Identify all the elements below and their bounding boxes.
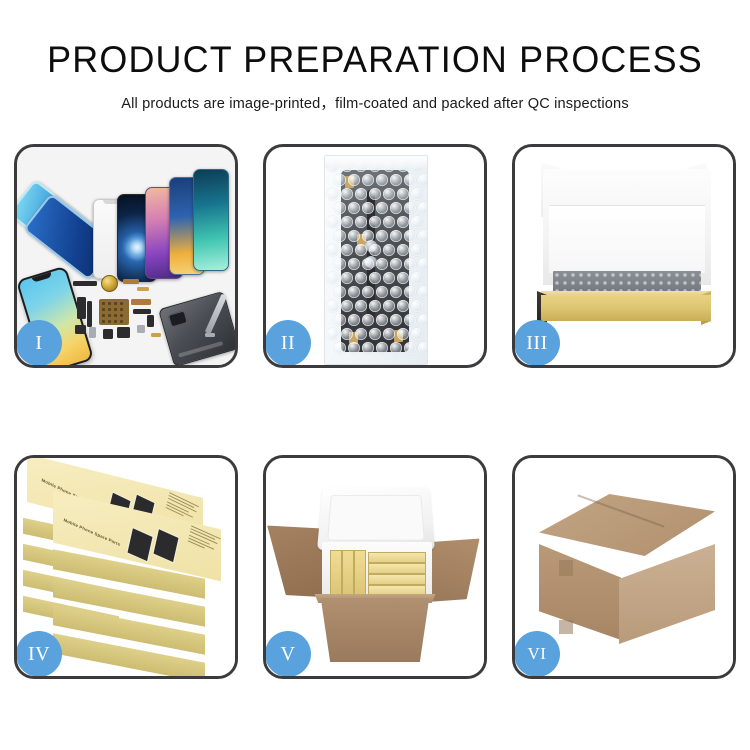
part-gold-contact — [151, 333, 161, 337]
part-flex-cable-2 — [131, 299, 151, 305]
bag-seal-edge — [325, 156, 427, 168]
step-badge-2: II — [265, 320, 311, 366]
yellow-box-3 — [354, 550, 366, 596]
carton-top-face — [539, 494, 715, 556]
styrofoam-lid — [317, 487, 435, 550]
front-box-spec-lines — [187, 525, 222, 557]
yellow-box-1 — [330, 550, 342, 596]
process-step-panel-5: V — [263, 455, 487, 679]
process-step-panel-3: III — [512, 144, 736, 368]
carton-left-face — [539, 544, 621, 640]
carton-right-face — [619, 544, 715, 644]
yellow-box-2 — [342, 550, 354, 596]
process-step-panel-1: I — [14, 144, 238, 368]
part-flex-cable-3 — [133, 309, 151, 314]
part-earpiece — [103, 329, 113, 339]
step-badge-4: IV — [16, 631, 62, 677]
part-gold-connector — [137, 287, 149, 291]
yellow-box-flat-2 — [368, 563, 426, 574]
part-screw-set — [137, 325, 145, 333]
part-sim-tray — [89, 327, 96, 338]
yellow-box-flat-3 — [368, 574, 426, 585]
carton-tape-upper — [559, 560, 573, 576]
front-box-label: Mobile Phone Spare Parts — [63, 517, 121, 547]
part-antenna-strip — [87, 301, 92, 327]
part-button-flex — [147, 315, 154, 327]
box-front-face — [541, 295, 711, 321]
page-subtitle: All products are image-printed，film-coat… — [0, 92, 750, 113]
process-steps-grid: I — [14, 144, 736, 679]
process-step-panel-4: Mobile Phone Spare Parts Mobile Phone Sp… — [14, 455, 238, 679]
part-vibrator — [75, 325, 86, 334]
page-header: PRODUCT PREPARATION PROCESS All products… — [0, 0, 750, 113]
foam-front-panel — [549, 205, 705, 273]
part-speaker-mesh — [73, 281, 97, 286]
step-badge-6: VI — [514, 631, 560, 677]
bubble-texture — [325, 156, 427, 364]
process-step-panel-6: VI — [512, 455, 736, 679]
page-title: PRODUCT PREPARATION PROCESS — [11, 38, 739, 82]
process-step-panel-2: II — [263, 144, 487, 368]
yellow-box-flat-1 — [368, 552, 426, 563]
part-flex-cable-1 — [123, 279, 139, 284]
step-badge-3: III — [514, 320, 560, 366]
logic-board-chip-grid — [99, 299, 129, 325]
part-taptic-engine — [117, 327, 130, 338]
carton-tape-lower — [559, 620, 573, 634]
step-badge-5: V — [265, 631, 311, 677]
part-camera-module — [77, 297, 86, 319]
front-box-window-2 — [152, 528, 179, 564]
carton-body — [316, 598, 434, 662]
phone-cyan-gradient — [193, 169, 229, 271]
vibration-motor-part — [101, 275, 118, 292]
bubble-wrap-bag — [324, 155, 428, 365]
front-box-window-1 — [126, 527, 153, 563]
step-badge-1: I — [16, 320, 62, 366]
